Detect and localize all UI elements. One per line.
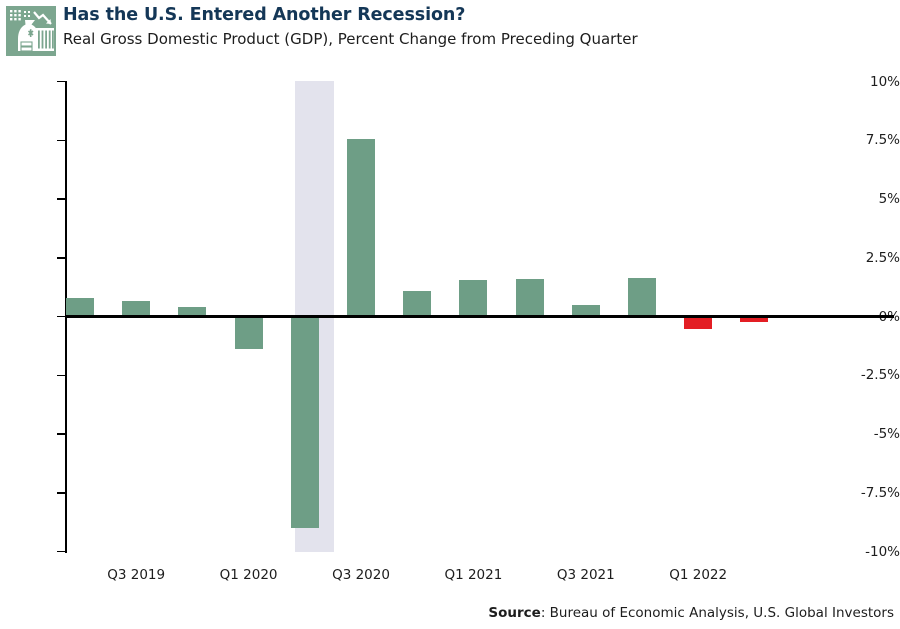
chart-plot-area: 10%7.5%5%2.5%0%-2.5%-5%-7.5%-10% Q3 2019… <box>0 0 900 629</box>
x-axis-tick-label: Q1 2021 <box>444 567 502 583</box>
y-axis-tick-label: 5% <box>852 191 900 207</box>
y-axis-tick-label: -5% <box>852 426 900 442</box>
x-axis-tick-label: Q1 2022 <box>669 567 727 583</box>
y-axis-tick <box>57 433 65 435</box>
source-text: Bureau of Economic Analysis, U.S. Global… <box>550 605 894 621</box>
y-axis-tick-label: 2.5% <box>852 250 900 266</box>
bar-q4-2021 <box>628 278 656 317</box>
x-axis-tick-label: Q3 2021 <box>557 567 615 583</box>
source-note: Source: Bureau of Economic Analysis, U.S… <box>488 605 894 621</box>
y-axis-tick <box>57 81 65 83</box>
bar-q1-2022 <box>684 317 712 330</box>
bar-q2-2021 <box>516 279 544 317</box>
bar-q4-2020 <box>403 291 431 317</box>
y-axis-tick <box>57 257 65 259</box>
y-axis-tick-label: 7.5% <box>852 132 900 148</box>
y-axis-tick-label: -2.5% <box>852 367 900 383</box>
bar-q1-2020 <box>235 317 263 350</box>
y-axis-tick-label: 10% <box>852 74 900 90</box>
source-separator: : <box>541 605 550 621</box>
zero-baseline <box>65 315 894 318</box>
bar-q2-2019 <box>66 298 94 317</box>
bar-q2-2020 <box>291 317 319 529</box>
x-axis-tick-label: Q3 2019 <box>107 567 165 583</box>
bar-q1-2021 <box>459 280 487 316</box>
y-axis-tick <box>57 198 65 200</box>
y-axis-tick <box>57 551 65 553</box>
y-axis-tick-label: -10% <box>852 544 900 560</box>
y-axis-tick <box>57 375 65 377</box>
y-axis-tick <box>57 140 65 142</box>
y-axis-tick <box>57 316 65 318</box>
y-axis-tick <box>57 492 65 494</box>
source-label: Source <box>488 605 540 621</box>
bar-q3-2020 <box>347 139 375 316</box>
x-axis-tick-label: Q3 2020 <box>332 567 390 583</box>
y-axis-tick-label: -7.5% <box>852 485 900 501</box>
x-axis-tick-label: Q1 2020 <box>220 567 278 583</box>
